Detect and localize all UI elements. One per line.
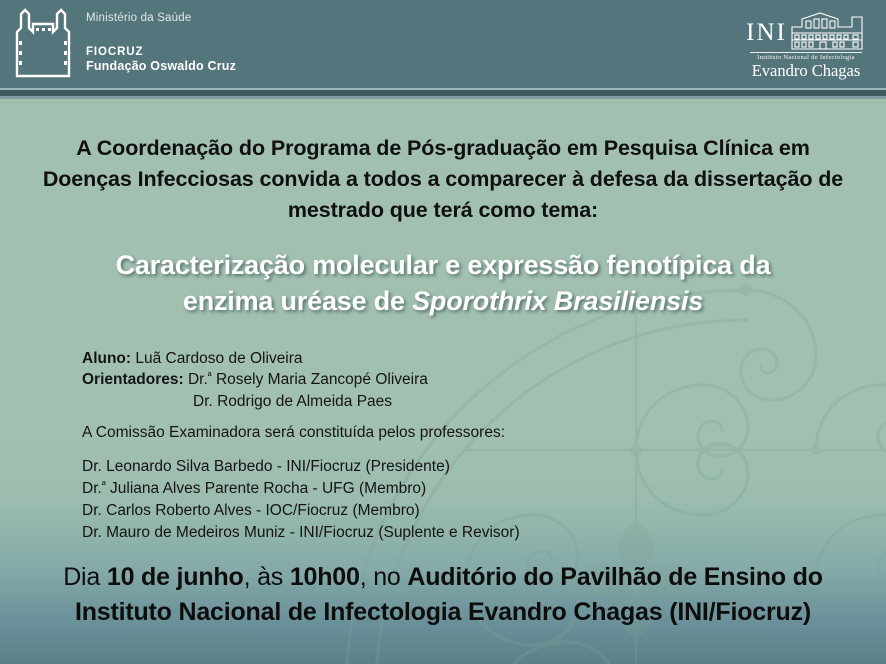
divider-bottom-line [0,96,886,99]
event-line-2: Instituto Nacional de Infectologia Evand… [20,595,866,630]
member-title: Dr. [82,458,102,475]
committee-intro: A Comissão Examinadora será constituída … [82,424,505,442]
advisors-label: Orientadores: [82,371,184,388]
thesis-title: Caracterização molecular e expressão fen… [30,248,856,319]
ini-institute-subtitle: Instituto Nacional de Infectologia [734,54,878,61]
member-text: Juliana Alves Parente Rocha - UFG (Membr… [106,480,426,497]
thesis-title-line-2: enzima uréase de Sporothrix Brasiliensis [30,284,856,320]
member-text: Leonardo Silva Barbedo - INI/Fiocruz (Pr… [102,458,450,475]
member-title: Dr. [82,524,102,541]
member-text: Carlos Roberto Alves - IOC/Fiocruz (Memb… [102,502,420,519]
event-time: 10h00 [290,563,360,591]
list-item: Dr.ª Juliana Alves Parente Rocha - UFG (… [82,478,520,500]
thesis-species-name: Sporothrix Brasiliensis [412,286,703,316]
list-item: Dr. Mauro de Medeiros Muniz - INI/Fiocru… [82,522,520,544]
committee-members: Dr. Leonardo Silva Barbedo - INI/Fiocruz… [82,456,520,544]
ini-acronym: INI [746,20,787,51]
ini-building-icon [790,7,866,51]
intro-line-2: Doenças Infecciosas convida a todos a co… [30,164,856,195]
institutional-header-band: Ministério da Saúde FIOCRUZ Fundação Osw… [0,0,886,88]
advisor-1-name: Rosely Maria Zancopé Oliveira [212,371,428,388]
fiocruz-acronym: FIOCRUZ [86,45,236,59]
list-item: Dr. Carlos Roberto Alves - IOC/Fiocruz (… [82,500,520,522]
list-item: Dr. Leonardo Silva Barbedo - INI/Fiocruz… [82,456,520,478]
ini-logo-lockup: INI [734,5,878,87]
event-place-line-1: Auditório do Pavilhão de Ensino do [407,563,822,591]
fiocruz-logo-lockup: Ministério da Saúde FIOCRUZ Fundação Osw… [12,6,236,80]
event-line-1: Dia 10 de junho, às 10h00, no Auditório … [20,560,866,595]
header-divider [0,88,886,99]
fiocruz-full-name: Fundação Oswaldo Cruz [86,59,236,75]
advisor-2-row: Dr. Rodrigo de Almeida Paes [82,391,722,412]
defense-details: Aluno: Luã Cardoso de Oliveira Orientado… [82,348,722,412]
invitation-intro: A Coordenação do Programa de Pós-graduaç… [30,133,856,227]
thesis-title-line-1: Caracterização molecular e expressão fen… [30,248,856,284]
event-day-word: Dia [63,563,107,591]
event-date: 10 de junho [107,563,244,591]
member-title: Dr. [82,502,102,519]
member-title: Dr. [82,480,102,497]
intro-line-1: A Coordenação do Programa de Pós-graduaç… [30,133,856,164]
student-name: Luã Cardoso de Oliveira [135,350,302,367]
ini-institute-name: Evandro Chagas [734,62,878,81]
member-text: Mauro de Medeiros Muniz - INI/Fiocruz (S… [102,524,520,541]
ini-divider-rule [750,52,862,53]
thesis-title-prefix: enzima uréase de [183,286,412,316]
student-row: Aluno: Luã Cardoso de Oliveira [82,348,722,369]
advisors-row: Orientadores: Dr.ª Rosely Maria Zancopé … [82,369,722,390]
student-label: Aluno: [82,350,131,367]
intro-line-3: mestrado que terá como tema: [30,195,856,226]
event-time-prefix: , às [244,563,290,591]
event-details: Dia 10 de junho, às 10h00, no Auditório … [20,560,866,629]
event-place-prefix: , no [360,563,408,591]
advisor-1-title: Dr. [188,371,208,388]
invitation-poster: Ministério da Saúde FIOCRUZ Fundação Osw… [0,0,886,664]
fiocruz-castle-icon [12,6,74,80]
ministry-label: Ministério da Saúde [86,12,236,24]
committee-list: Dr. Leonardo Silva Barbedo - INI/Fiocruz… [82,456,520,544]
